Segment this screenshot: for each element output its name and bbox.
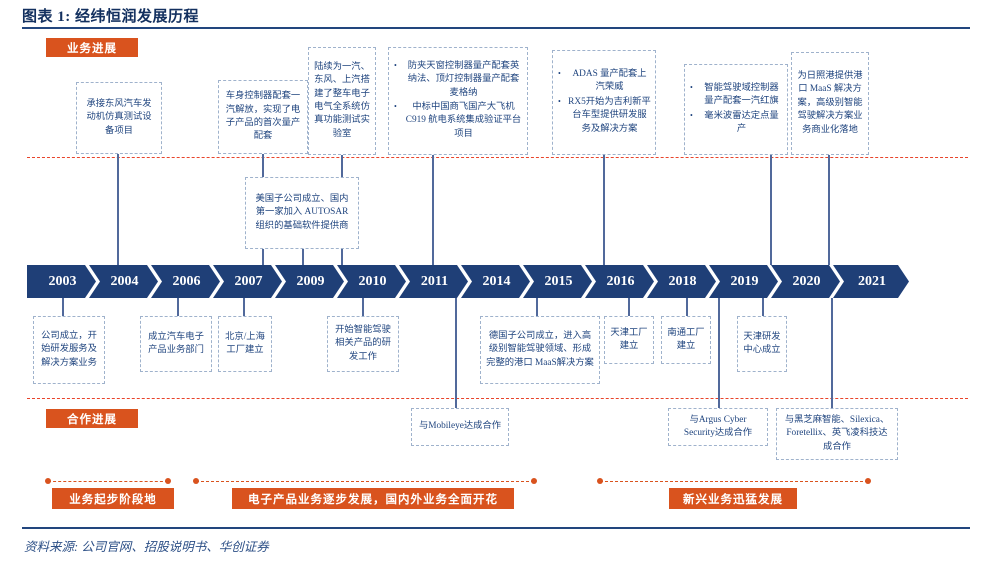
timeline-year-2009[interactable]: 2009 [275, 265, 344, 298]
phase-dot-start-3 [597, 478, 603, 484]
timeline-year-2018[interactable]: 2018 [647, 265, 716, 298]
phase-line-2 [196, 481, 534, 482]
connector-2010-bottom [362, 298, 364, 316]
timeline-year-2019[interactable]: 2019 [709, 265, 778, 298]
timeline-year-2007[interactable]: 2007 [213, 265, 282, 298]
timeline-year-2015[interactable]: 2015 [523, 265, 592, 298]
event-box-2019-cooperation: 与Argus Cyber Security达成合作 [668, 408, 768, 446]
badge-business-progress: 业务进展 [46, 38, 138, 57]
divider-business-top [27, 157, 968, 158]
connector-2004-bottom [177, 298, 179, 316]
timeline-year-2020[interactable]: 2020 [771, 265, 840, 298]
timeline-year-2010[interactable]: 2010 [337, 265, 406, 298]
event-box-2021-cooperation: 与黑芝麻智能、Silexica、Foretellix、英飞凌科技达成合作 [776, 408, 898, 460]
event-box-2003-bottom: 公司成立，开始研发服务及解决方案业务 [33, 316, 105, 384]
event-box-2014-bottom: 德国子公司成立，进入高级别智能驾驶领域、形成完整的港口 MaaS解决方案 [480, 316, 600, 384]
connector-2011-top [432, 155, 434, 265]
badge-cooperation-progress: 合作进展 [46, 409, 138, 428]
source-note: 资料来源: 公司官网、招股说明书、华创证券 [24, 536, 269, 555]
connector-2016-bottom [686, 298, 688, 316]
event-box-2021-top: 为日照港提供港口 MaaS 解决方案，高级别智能驾驶解决方案业务商业化落地 [791, 52, 869, 155]
phase-label-3: 新兴业务迅猛发展 [669, 488, 797, 509]
event-box-2004-bottom: 成立汽车电子产品业务部门 [140, 316, 212, 372]
event-box-2015-bottom: 天津工厂建立 [604, 316, 654, 364]
connector-2014-cooperation [455, 298, 457, 408]
timeline-year-2004[interactable]: 2004 [89, 265, 158, 298]
title-divider [22, 27, 970, 29]
event-box-2014-cooperation: 与Mobileye达成合作 [411, 408, 509, 446]
phase-dot-end-3 [865, 478, 871, 484]
timeline-year-2006[interactable]: 2006 [151, 265, 220, 298]
connector-2009-mid [302, 249, 304, 265]
connector-2004-top [117, 154, 119, 265]
event-box-2004-top: 承接东风汽车发动机仿真测试设备项目 [76, 82, 162, 154]
event-bullet: 毫米波雷达定点量产 [700, 110, 783, 137]
connector-2019-bottom [762, 298, 764, 316]
event-bullet: 中标中国商飞国产大飞机 C919 航电系统集成验证平台项目 [404, 101, 523, 141]
timeline-bar: 2003 2004 2006 2007 2009 2010 2011 2014 … [27, 265, 911, 298]
timeline-year-2021[interactable]: 2021 [833, 265, 909, 298]
phase-line-1 [48, 481, 168, 482]
phase-label-1: 业务起步阶段地 [52, 488, 174, 509]
timeline-year-2011[interactable]: 2011 [399, 265, 468, 298]
footer-divider [22, 527, 970, 529]
connector-2021-top [828, 155, 830, 265]
event-box-2016-bottom: 南通工厂建立 [661, 316, 711, 364]
event-box-2010-top: 陆续为一汽、东风、上汽搭建了整车电子电气全系统仿真功能测试实验室 [308, 47, 376, 155]
phase-line-3 [600, 481, 868, 482]
connector-2015-bottom [628, 298, 630, 316]
phase-label-2: 电子产品业务逐步发展，国内外业务全面开花 [232, 488, 514, 509]
event-box-2016-top: ADAS 量产配套上汽荣威 RX5开始为吉利新平台车型提供研发服务及解决方案 [552, 50, 656, 155]
connector-2021-cooperation [831, 298, 833, 408]
timeline-year-2016[interactable]: 2016 [585, 265, 654, 298]
event-box-2011-top: 防夹天窗控制器量产配套英纳法、顶灯控制器量产配套麦格纳 中标中国商飞国产大飞机 … [388, 47, 528, 155]
event-bullet: 智能驾驶域控制器量产配套一汽红旗 [700, 82, 783, 109]
event-bullet: 防夹天窗控制器量产配套英纳法、顶灯控制器量产配套麦格纳 [404, 60, 523, 100]
event-box-2006-bottom: 北京/上海工厂建立 [218, 316, 272, 372]
phase-dot-start-2 [193, 478, 199, 484]
phase-dot-end-1 [165, 478, 171, 484]
event-bullet: RX5开始为吉利新平台车型提供研发服务及解决方案 [568, 96, 651, 136]
timeline-figure: 图表 1: 经纬恒润发展历程 业务进展 承接东风汽车发动机仿真测试设备项目 车身… [0, 0, 992, 567]
divider-cooperation [27, 398, 968, 399]
phase-dot-start-1 [45, 478, 51, 484]
connector-2020-top [770, 155, 772, 265]
connector-2014-bottom [536, 298, 538, 316]
event-box-2019-bottom: 天津研发中心成立 [737, 316, 787, 372]
timeline-year-2014[interactable]: 2014 [461, 265, 530, 298]
connector-2006-bottom [243, 298, 245, 316]
phase-dot-end-2 [531, 478, 537, 484]
event-box-2020-top: 智能驾驶域控制器量产配套一汽红旗 毫米波雷达定点量产 [684, 64, 788, 155]
event-box-2007-top: 车身控制器配套一汽解放，实现了电子产品的首次量产配套 [218, 80, 308, 154]
event-box-2010-bottom: 开始智能驾驶相关产品的研发工作 [327, 316, 399, 372]
connector-2003-bottom [62, 298, 64, 316]
event-bullet: ADAS 量产配套上汽荣威 [568, 68, 651, 95]
timeline-year-2003[interactable]: 2003 [27, 265, 96, 298]
event-box-2009-mid: 美国子公司成立、国内第一家加入 AUTOSAR 组织的基础软件提供商 [245, 177, 359, 249]
connector-2019-cooperation [718, 298, 720, 408]
connector-2016-top [603, 155, 605, 265]
page-title: 图表 1: 经纬恒润发展历程 [22, 5, 199, 26]
